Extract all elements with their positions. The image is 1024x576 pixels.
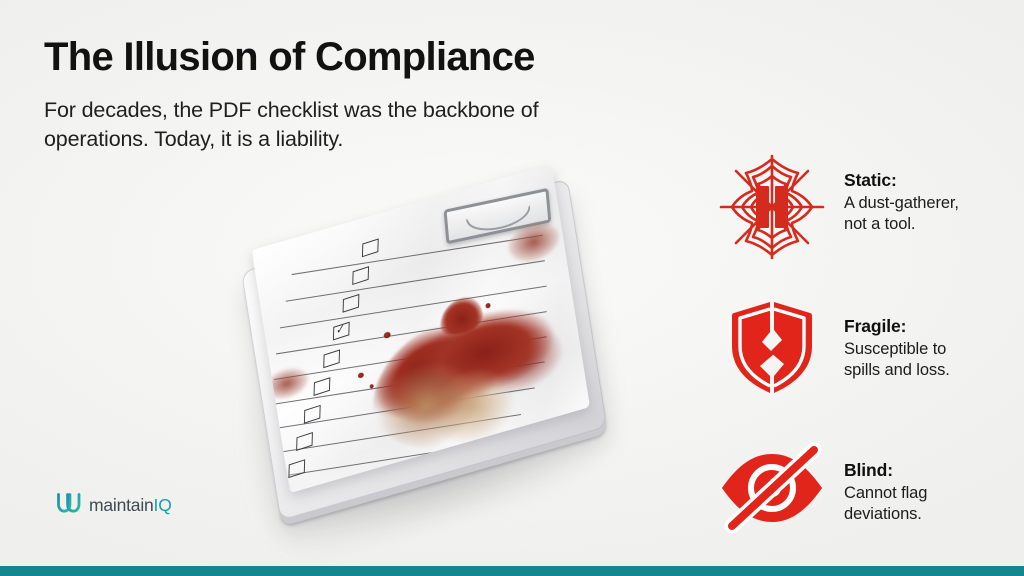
bullet-title: Static: <box>844 170 1016 191</box>
bullet-desc: Susceptible to spills and loss. <box>844 339 1016 381</box>
bullet-text-fragile: Fragile: Susceptible to spills and loss. <box>844 298 1016 381</box>
bullet-title: Blind: <box>844 460 1016 481</box>
bullet-desc: Cannot flag deviations. <box>844 483 1016 525</box>
checkbox-item <box>323 349 340 368</box>
bullet-desc-line2: not a tool. <box>844 215 915 233</box>
bullet-list: Static: A dust-gatherer, not a tool. <box>716 152 1016 550</box>
spiderweb-pause-icon <box>716 152 828 262</box>
eye-off-icon <box>716 442 828 534</box>
checkbox-item <box>343 294 360 313</box>
checkbox-item-checked: ✓ <box>333 322 350 341</box>
broken-shield-icon <box>716 298 828 398</box>
page-title: The Illusion of Compliance <box>44 36 644 78</box>
bottom-accent-bar <box>0 566 1024 576</box>
bullet-desc-line1: Susceptible to <box>844 340 946 358</box>
bullet-desc: A dust-gatherer, not a tool. <box>844 193 1016 235</box>
brand-logo: maintainIQ <box>56 492 172 519</box>
bullet-desc-line1: A dust-gatherer, <box>844 194 959 212</box>
bullet-desc-line1: Cannot flag <box>844 484 927 502</box>
clipboard-photo-inner: ✓ <box>165 94 755 576</box>
brand-logo-wordmark: maintainIQ <box>89 497 172 515</box>
bullet-text-static: Static: A dust-gatherer, not a tool. <box>844 152 1016 235</box>
bullet-text-blind: Blind: Cannot flag deviations. <box>844 442 1016 525</box>
clipboard-photo: ✓ <box>180 170 740 500</box>
bullet-desc-line2: spills and loss. <box>844 361 950 379</box>
checkbox-item <box>352 266 369 285</box>
checkbox-item <box>304 405 321 424</box>
bullet-item-fragile: Fragile: Susceptible to spills and loss. <box>716 298 1016 406</box>
checkbox-item <box>296 432 313 451</box>
checkbox-item <box>288 459 305 478</box>
checkbox-item <box>362 238 379 257</box>
bullet-title: Fragile: <box>844 316 1016 337</box>
bullet-desc-line2: deviations. <box>844 505 922 523</box>
maintainiq-chevron-mark <box>56 492 82 519</box>
brand-word-primary: maintain <box>89 495 154 515</box>
bullet-item-static: Static: A dust-gatherer, not a tool. <box>716 152 1016 262</box>
brand-word-accent: IQ <box>154 495 172 515</box>
slide-canvas: The Illusion of Compliance For decades, … <box>0 0 1024 576</box>
bullet-item-blind: Blind: Cannot flag deviations. <box>716 442 1016 550</box>
checkbox-item <box>314 377 331 396</box>
